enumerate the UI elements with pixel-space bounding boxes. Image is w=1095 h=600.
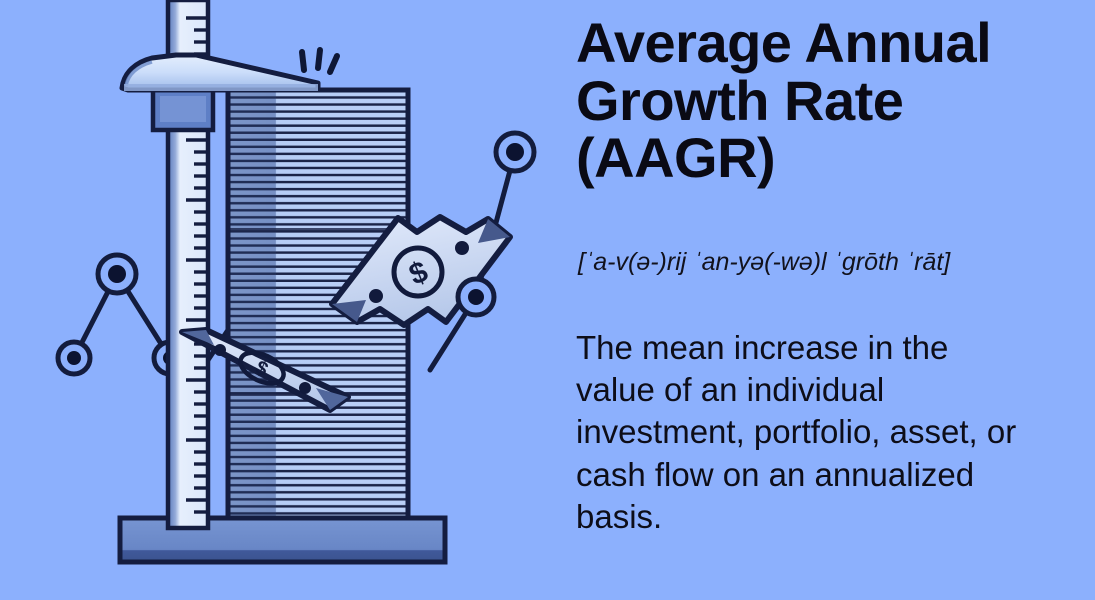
chart-node-marker (458, 279, 494, 315)
term-title: Average Annual Growth Rate (AAGR) (576, 14, 1046, 187)
stack-shadow-band (228, 90, 276, 528)
infographic-canvas: $ $ (0, 0, 1095, 600)
chart-node-marker (58, 342, 90, 374)
definition-text: The mean increase in the value of an ind… (576, 327, 1036, 538)
definition-panel: Average Annual Growth Rate (AAGR) [ˈa-v(… (576, 0, 1076, 600)
pronunciation-text: [ˈa-v(ə-)rij ˈan-yə(-wə)l ˈgrōth ˈrāt] (578, 248, 1048, 277)
illustration-panel: $ $ (0, 0, 560, 600)
chart-node-marker (496, 133, 534, 171)
ruler-slider-block (153, 90, 213, 130)
chart-node-marker (98, 255, 136, 293)
